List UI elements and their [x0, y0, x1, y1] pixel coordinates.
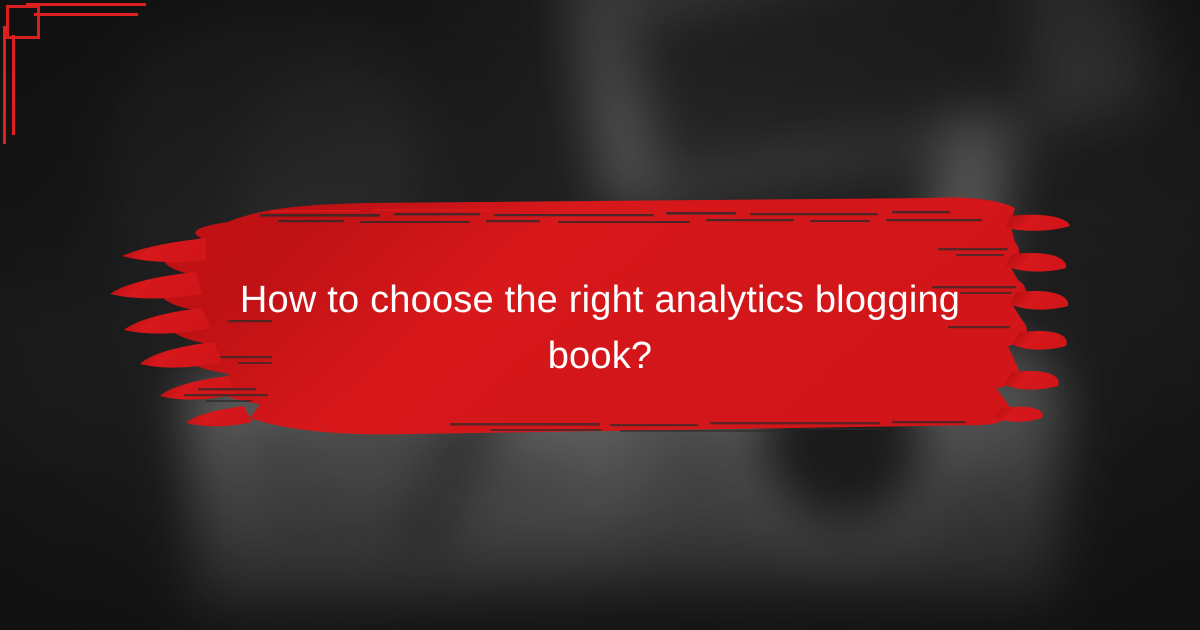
corner-line-horizontal: [34, 13, 138, 16]
corner-line-horizontal: [26, 3, 146, 6]
corner-square-icon: [6, 5, 40, 39]
corner-line-vertical: [3, 26, 6, 144]
corner-line-vertical: [12, 35, 15, 135]
card-title: How to choose the right analytics bloggi…: [190, 272, 1010, 384]
social-share-card: How to choose the right analytics bloggi…: [0, 0, 1200, 630]
